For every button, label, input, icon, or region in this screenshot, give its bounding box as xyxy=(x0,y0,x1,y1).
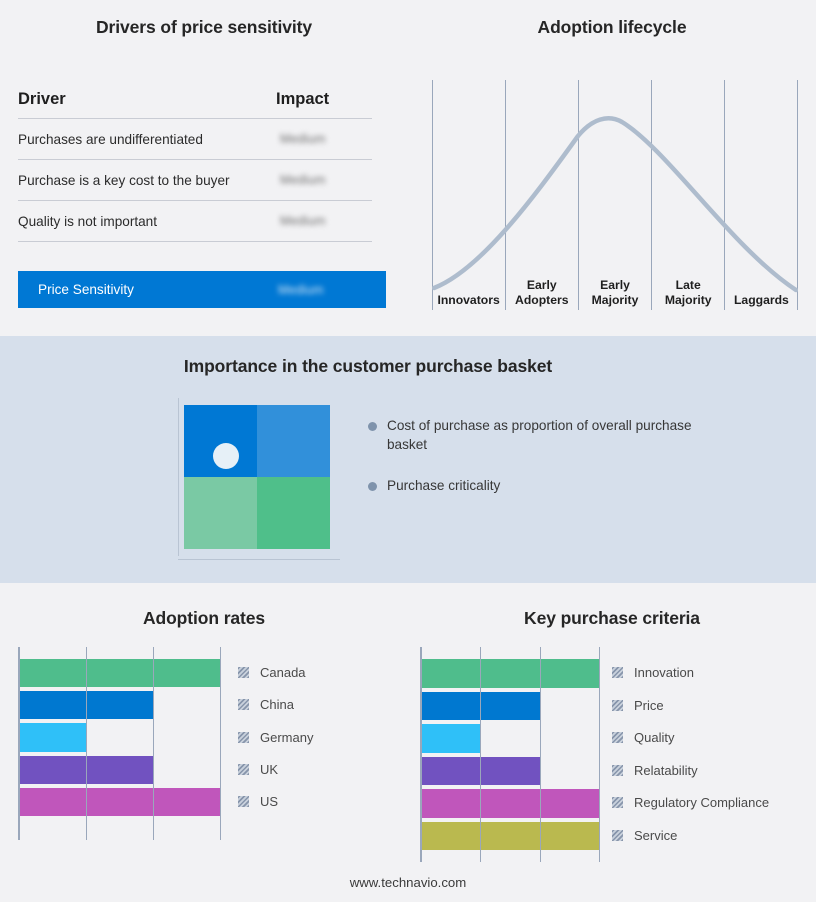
segment-late-majority: Late Majority xyxy=(652,262,725,310)
adoption-rates-plot xyxy=(18,647,221,840)
bar xyxy=(20,691,154,719)
bar xyxy=(422,724,481,753)
segment-line2: Majority xyxy=(592,293,639,308)
segment-line2: Majority xyxy=(665,293,712,308)
impact-value: Medium xyxy=(280,173,326,187)
segment-line1: Late xyxy=(676,278,701,293)
basket-legend: Cost of purchase as proportion of overal… xyxy=(368,416,698,517)
drivers-table: Driver Impact Purchases are undifferenti… xyxy=(18,90,372,242)
segment-laggards: Laggards xyxy=(725,262,798,310)
bar xyxy=(20,723,87,751)
legend-item: UK xyxy=(238,762,278,777)
drivers-title: Drivers of price sensitivity xyxy=(0,17,408,38)
basket-title: Importance in the customer purchase bask… xyxy=(0,356,736,377)
legend-label: Regulatory Compliance xyxy=(634,795,769,810)
legend-item: US xyxy=(238,794,278,809)
matrix-y-axis xyxy=(178,398,179,556)
legend-swatch-hatched-icon xyxy=(238,764,249,775)
gridline xyxy=(153,647,154,840)
quadrant-bottom-left xyxy=(184,477,257,549)
basket-legend-item: Purchase criticality xyxy=(368,476,698,495)
adoption-rates-panel: Adoption rates CanadaChinaGermanyUKUS xyxy=(0,583,408,902)
legend-swatch-hatched-icon xyxy=(238,732,249,743)
legend-item: Quality xyxy=(612,730,674,745)
bar xyxy=(422,757,541,786)
summary-impact-value: Medium xyxy=(278,283,324,297)
segment-line2: Laggards xyxy=(734,293,789,308)
bullet-dot-icon xyxy=(368,482,377,491)
legend-item: Canada xyxy=(238,665,306,680)
legend-item: China xyxy=(238,697,294,712)
adoption-rates-legend: CanadaChinaGermanyUKUS xyxy=(238,647,398,840)
drivers-panel: Drivers of price sensitivity Driver Impa… xyxy=(0,0,408,336)
legend-swatch-hatched-icon xyxy=(612,732,623,743)
key-purchase-criteria-plot xyxy=(420,647,600,862)
summary-label: Price Sensitivity xyxy=(38,282,278,297)
segment-line1: Early xyxy=(600,278,630,293)
legend-label: Service xyxy=(634,828,677,843)
legend-item: Service xyxy=(612,828,677,843)
footer-url: www.technavio.com xyxy=(0,875,816,890)
summary-impact-cell: Medium xyxy=(278,281,370,299)
key-purchase-criteria-legend: InnovationPriceQualityRelatabilityRegula… xyxy=(612,647,812,862)
table-header-row: Driver Impact xyxy=(18,90,372,119)
legend-swatch-hatched-icon xyxy=(612,700,623,711)
matrix-x-axis xyxy=(178,559,340,560)
legend-swatch-hatched-icon xyxy=(238,796,249,807)
legend-label: Innovation xyxy=(634,665,694,680)
legend-item: Relatability xyxy=(612,763,698,778)
bar xyxy=(20,659,221,687)
impact-value: Medium xyxy=(280,132,326,146)
criteria-bars xyxy=(422,647,600,862)
segment-line2: Innovators xyxy=(437,293,499,308)
legend-label: Price xyxy=(634,698,664,713)
gridline xyxy=(480,647,481,862)
legend-swatch-hatched-icon xyxy=(238,699,249,710)
legend-item: Innovation xyxy=(612,665,694,680)
matrix-quadrants xyxy=(184,405,330,549)
bar xyxy=(422,789,600,818)
table-row: Purchase is a key cost to the buyer Medi… xyxy=(18,160,372,201)
gridline xyxy=(86,647,87,840)
legend-swatch-hatched-icon xyxy=(238,667,249,678)
legend-label: UK xyxy=(260,762,278,777)
column-header-driver: Driver xyxy=(18,90,276,109)
bar xyxy=(422,659,600,688)
driver-label: Purchase is a key cost to the buyer xyxy=(18,173,280,188)
impact-value-cell: Medium xyxy=(280,130,372,148)
quadrant-top-left xyxy=(184,405,257,477)
segment-line2: Adopters xyxy=(515,293,569,308)
legend-swatch-hatched-icon xyxy=(612,765,623,776)
bar xyxy=(422,692,541,721)
legend-swatch-hatched-icon xyxy=(612,667,623,678)
adoption-rates-title: Adoption rates xyxy=(0,608,408,629)
table-row: Purchases are undifferentiated Medium xyxy=(18,119,372,160)
legend-swatch-hatched-icon xyxy=(612,797,623,808)
column-header-impact: Impact xyxy=(276,90,368,109)
legend-item: Germany xyxy=(238,730,313,745)
price-sensitivity-summary-row: Price Sensitivity Medium xyxy=(18,271,386,308)
legend-item: Price xyxy=(612,698,664,713)
impact-value-cell: Medium xyxy=(280,171,372,189)
legend-label: Canada xyxy=(260,665,306,680)
basket-legend-label: Cost of purchase as proportion of overal… xyxy=(387,416,698,454)
segment-line1: Early xyxy=(527,278,557,293)
basket-legend-label: Purchase criticality xyxy=(387,476,500,495)
purchase-basket-matrix xyxy=(178,398,340,560)
lifecycle-title: Adoption lifecycle xyxy=(408,17,816,38)
legend-label: Germany xyxy=(260,730,313,745)
key-purchase-criteria-panel: Key purchase criteria InnovationPriceQua… xyxy=(408,583,816,902)
quadrant-bottom-right xyxy=(257,477,330,549)
segment-early-adopters: Early Adopters xyxy=(505,262,578,310)
legend-label: Relatability xyxy=(634,763,698,778)
adoption-bars xyxy=(20,647,221,840)
segment-innovators: Innovators xyxy=(432,262,505,310)
impact-value-cell: Medium xyxy=(280,212,372,230)
driver-label: Quality is not important xyxy=(18,214,280,229)
bar xyxy=(20,788,221,816)
legend-label: China xyxy=(260,697,294,712)
segment-early-majority: Early Majority xyxy=(578,262,651,310)
table-row: Quality is not important Medium xyxy=(18,201,372,242)
bar xyxy=(20,756,154,784)
legend-label: US xyxy=(260,794,278,809)
quadrant-top-right xyxy=(257,405,330,477)
legend-label: Quality xyxy=(634,730,674,745)
basket-legend-item: Cost of purchase as proportion of overal… xyxy=(368,416,698,454)
key-purchase-criteria-title: Key purchase criteria xyxy=(408,608,816,629)
gridline xyxy=(540,647,541,862)
lifecycle-segment-labels: Innovators Early Adopters Early Majority… xyxy=(432,262,798,310)
legend-item: Regulatory Compliance xyxy=(612,795,769,810)
legend-swatch-hatched-icon xyxy=(612,830,623,841)
bar xyxy=(422,822,600,851)
position-marker-dot xyxy=(213,443,239,469)
gridline xyxy=(599,647,600,862)
adoption-lifecycle-panel: Adoption lifecycle Innovators xyxy=(408,0,816,336)
impact-value: Medium xyxy=(280,214,326,228)
driver-label: Purchases are undifferentiated xyxy=(18,132,280,147)
bullet-dot-icon xyxy=(368,422,377,431)
gridline xyxy=(220,647,221,840)
infographic-page: Drivers of price sensitivity Driver Impa… xyxy=(0,0,816,902)
